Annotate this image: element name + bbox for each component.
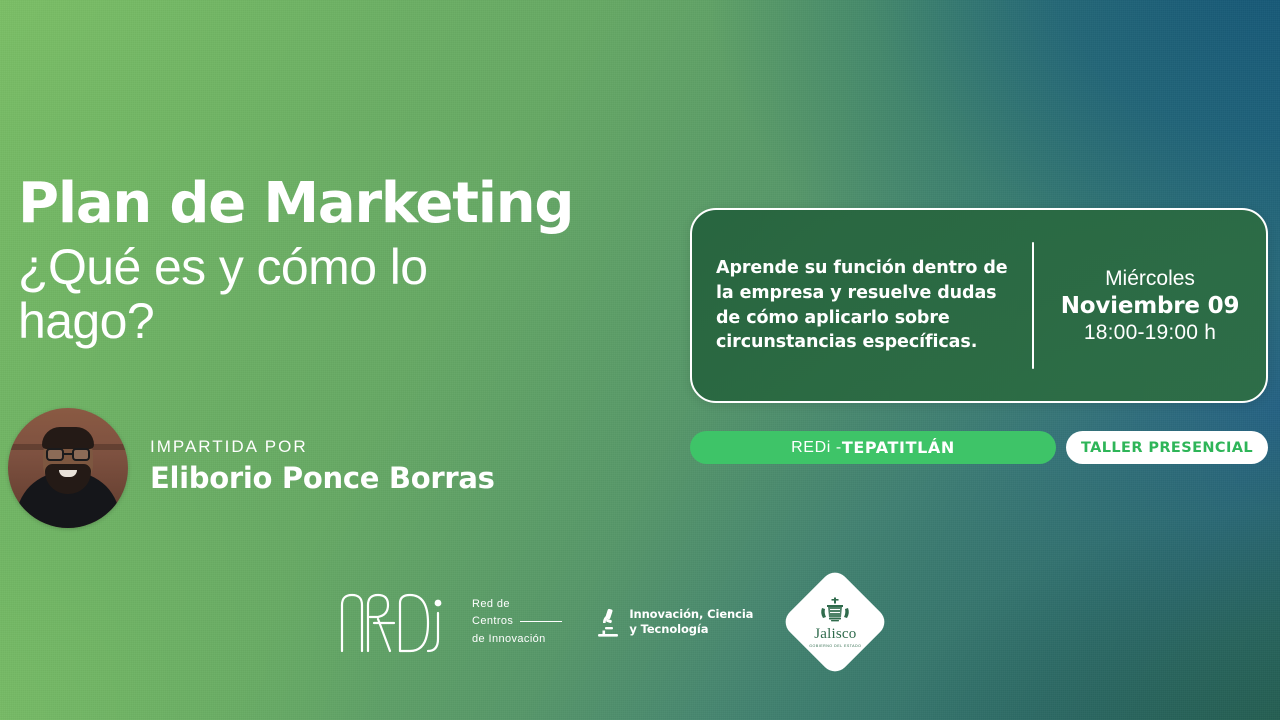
info-card-date-area: Miércoles Noviembre 09 18:00-19:00 h xyxy=(1034,210,1266,401)
jalisco-crest-icon xyxy=(818,597,852,625)
jalisco-logo: Jalisco GOBIERNO DEL ESTADO xyxy=(787,574,883,670)
jalisco-wordmark: Jalisco xyxy=(814,626,856,643)
headline-secondary: ¿Qué es y cómo lo hago? xyxy=(18,240,558,348)
info-card-description-area: Aprende su función dentro de la empresa … xyxy=(692,210,1032,401)
redi-word-line-3: de Innovación xyxy=(472,631,562,648)
presenter-name: Eliborio Ponce Borras xyxy=(150,461,495,495)
avatar-glasses-right xyxy=(72,448,90,461)
badge-row: REDi - TEPATITLÁN TALLER PRESENCIAL xyxy=(690,431,1268,464)
redi-word-1: Red de xyxy=(472,596,510,613)
info-card: Aprende su función dentro de la empresa … xyxy=(690,208,1268,403)
redi-word-line-2: Centros xyxy=(472,613,562,630)
headline-primary: Plan de Marketing xyxy=(18,176,698,232)
presenter-text: IMPARTIDA POR Eliborio Ponce Borras xyxy=(150,437,495,499)
avatar xyxy=(8,408,128,528)
footer-logo-row: Red de Centros de Innovación Innovación xyxy=(338,574,883,670)
redi-word-rule xyxy=(520,621,562,622)
redi-word-line-1: Red de xyxy=(472,596,562,613)
redi-logo-wordmark: Red de Centros de Innovación xyxy=(472,596,562,647)
ict-wordmark: Innovación, Ciencia y Tecnología xyxy=(629,607,753,637)
redi-logo-mark-icon xyxy=(338,589,458,655)
ict-line-2: y Tecnología xyxy=(629,622,753,637)
microscope-icon xyxy=(596,607,620,637)
ict-line-1: Innovación, Ciencia xyxy=(629,607,753,622)
avatar-glasses-left xyxy=(46,448,64,461)
badge-location-name: TEPATITLÁN xyxy=(842,438,955,457)
event-time: 18:00-19:00 h xyxy=(1084,321,1216,345)
badge-location-prefix: REDi - xyxy=(791,439,842,457)
avatar-hair xyxy=(42,427,94,449)
redi-logo-dot xyxy=(435,600,442,607)
avatar-glasses-bridge xyxy=(64,453,72,455)
redi-word-3: de Innovación xyxy=(472,631,546,648)
info-card-description: Aprende su función dentro de la empresa … xyxy=(716,256,1014,355)
badge-modality: TALLER PRESENCIAL xyxy=(1066,431,1268,464)
ict-logo: Innovación, Ciencia y Tecnología xyxy=(596,607,753,637)
headline-block: Plan de Marketing ¿Qué es y cómo lo hago… xyxy=(18,176,698,348)
presenter-label: IMPARTIDA POR xyxy=(150,437,495,457)
presenter-block: IMPARTIDA POR Eliborio Ponce Borras xyxy=(8,408,495,528)
event-weekday: Miércoles xyxy=(1105,267,1195,291)
badge-location: REDi - TEPATITLÁN xyxy=(690,431,1056,464)
jalisco-logo-content: Jalisco GOBIERNO DEL ESTADO xyxy=(787,574,883,670)
event-date: Noviembre 09 xyxy=(1061,293,1240,319)
redi-logo: Red de Centros de Innovación xyxy=(338,589,562,655)
jalisco-subtitle: GOBIERNO DEL ESTADO xyxy=(809,644,861,648)
redi-word-2: Centros xyxy=(472,613,513,630)
